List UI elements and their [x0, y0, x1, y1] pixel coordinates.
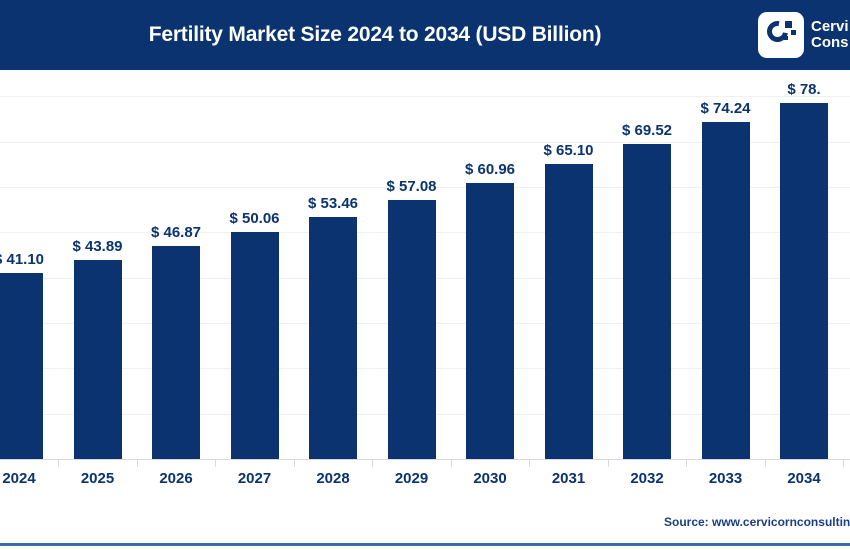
bar-value-label: $ 50.06 [229, 210, 279, 227]
bar-value-label: $ 69.52 [622, 122, 672, 139]
logo-text-line1: Cervi [811, 19, 849, 35]
source-attribution: Source: www.cervicornconsultin [664, 515, 850, 529]
bar-value-label: $ 65.10 [543, 142, 593, 159]
x-axis-label: 2028 [316, 470, 349, 487]
bar-value-label: $ 43.89 [72, 238, 122, 255]
x-axis-label: 2034 [787, 470, 820, 487]
logo: Cervi Cons [758, 12, 849, 58]
x-axis-label: 2026 [159, 470, 192, 487]
bar-value-label: $ 46.87 [151, 224, 201, 241]
bar-value-label: $ 53.46 [308, 195, 358, 212]
bar[interactable] [309, 217, 357, 459]
bar[interactable] [231, 232, 279, 459]
bar-group[interactable]: $ 69.52 [623, 70, 671, 460]
x-axis-label: 2030 [473, 470, 506, 487]
bar[interactable] [74, 260, 122, 459]
x-axis-label: 2033 [709, 470, 742, 487]
bar[interactable] [0, 273, 43, 459]
bar[interactable] [388, 200, 436, 459]
bar-group[interactable]: $ 43.89 [74, 70, 122, 460]
x-axis-tick [215, 460, 216, 467]
footer: Source: www.cervicornconsultin [0, 505, 850, 550]
x-axis-label: 2027 [238, 470, 271, 487]
bar-value-label: $ 60.96 [465, 161, 515, 178]
bar-group[interactable]: $ 78. [780, 70, 828, 460]
bar-group[interactable]: $ 46.87 [152, 70, 200, 460]
bar-group[interactable]: $ 41.10 [0, 70, 43, 460]
page-title: Fertility Market Size 2024 to 2034 (USD … [0, 0, 750, 70]
x-axis-tick [58, 460, 59, 467]
bar-group[interactable]: $ 53.46 [309, 70, 357, 460]
x-axis-label: 2025 [81, 470, 114, 487]
x-axis-label: 2031 [552, 470, 585, 487]
bar-value-label: $ 57.08 [386, 178, 436, 195]
bar-value-label: $ 41.10 [0, 251, 44, 268]
bar-group[interactable]: $ 74.24 [702, 70, 750, 460]
x-axis-tick [372, 460, 373, 467]
x-axis-label: 2029 [395, 470, 428, 487]
x-axis-tick [451, 460, 452, 467]
x-axis-tick [686, 460, 687, 467]
x-axis-tick [529, 460, 530, 467]
plot-area: $ 41.10$ 43.89$ 46.87$ 50.06$ 53.46$ 57.… [0, 70, 850, 460]
bar[interactable] [780, 103, 828, 459]
x-axis-tick [294, 460, 295, 467]
bar-value-label: $ 74.24 [700, 100, 750, 117]
bar-group[interactable]: $ 65.10 [545, 70, 593, 460]
bar[interactable] [623, 144, 671, 459]
bar-group[interactable]: $ 50.06 [231, 70, 279, 460]
bar[interactable] [702, 122, 750, 459]
bar[interactable] [466, 183, 514, 459]
logo-text: Cervi Cons [811, 19, 849, 51]
bar-value-label: $ 78. [787, 81, 820, 98]
x-axis-line [0, 459, 850, 460]
header-banner: Fertility Market Size 2024 to 2034 (USD … [0, 0, 850, 70]
x-axis-label: 2032 [630, 470, 663, 487]
footer-rule [0, 543, 850, 546]
x-axis-tick [843, 460, 844, 467]
bar-group[interactable]: $ 57.08 [388, 70, 436, 460]
bar[interactable] [545, 164, 593, 459]
x-axis-tick [765, 460, 766, 467]
logo-text-line2: Cons [811, 35, 849, 51]
x-axis-tick [608, 460, 609, 467]
bar-group[interactable]: $ 60.96 [466, 70, 514, 460]
cervicorn-c-mark-icon [758, 12, 804, 58]
bar[interactable] [152, 246, 200, 459]
x-axis-label: 2024 [2, 470, 35, 487]
bar-chart: $ 41.10$ 43.89$ 46.87$ 50.06$ 53.46$ 57.… [0, 70, 850, 505]
x-axis-tick [137, 460, 138, 467]
